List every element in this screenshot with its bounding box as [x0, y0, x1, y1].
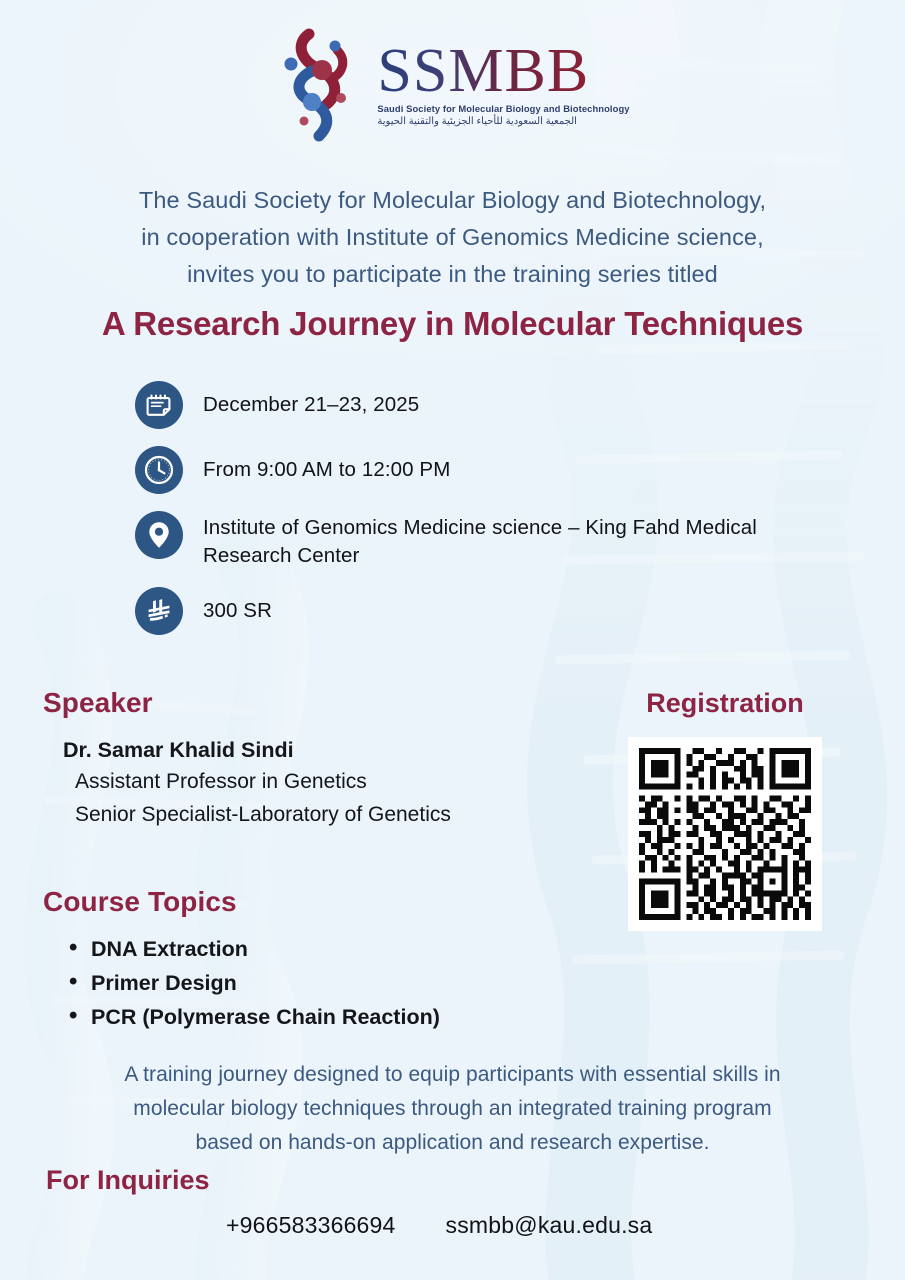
intro-line-3: invites you to participate in the traini…: [0, 256, 905, 293]
speaker-title-1: Assistant Professor in Genetics: [75, 765, 603, 798]
speaker-title-2: Senior Specialist-Laboratory of Genetics: [75, 798, 603, 831]
intro-line-1: The Saudi Society for Molecular Biology …: [0, 182, 905, 219]
event-details-list: December 21–23, 2025 From 9:00 AM to 12:…: [135, 381, 875, 652]
poster-content: SSMBB Saudi Society for Molecular Biolog…: [0, 0, 905, 1280]
detail-row-date: December 21–23, 2025: [135, 381, 875, 429]
contact-phone[interactable]: +966583366694: [226, 1212, 396, 1239]
detail-text-fee: 300 SR: [203, 587, 272, 625]
logo-tagline-arabic: الجمعية السعودية للأحياء الجزيئية والتقن…: [377, 116, 577, 127]
saudi-riyal-icon: [135, 587, 183, 635]
logo-tagline-english: Saudi Society for Molecular Biology and …: [377, 103, 629, 114]
detail-row-fee: 300 SR: [135, 587, 875, 635]
inquiries-heading: For Inquiries: [46, 1165, 210, 1196]
detail-row-time: From 9:00 AM to 12:00 PM: [135, 446, 875, 494]
course-topics-heading: Course Topics: [43, 886, 603, 918]
description-line-3: based on hands-on application and resear…: [0, 1126, 905, 1160]
contact-row: +966583366694 ssmbb@kau.edu.sa: [226, 1212, 652, 1239]
poster-root: SSMBB Saudi Society for Molecular Biolog…: [0, 0, 905, 1280]
intro-paragraph: The Saudi Society for Molecular Biology …: [0, 182, 905, 293]
list-item: Primer Design: [91, 966, 603, 1000]
description-paragraph: A training journey designed to equip par…: [0, 1058, 905, 1160]
intro-line-2: in cooperation with Institute of Genomic…: [0, 219, 905, 256]
speaker-name: Dr. Samar Khalid Sindi: [63, 735, 603, 765]
location-pin-icon: [135, 511, 183, 559]
calendar-icon: [135, 381, 183, 429]
course-topics-section: Course Topics DNA Extraction Primer Desi…: [43, 886, 603, 1034]
page-title: A Research Journey in Molecular Techniqu…: [0, 305, 905, 343]
list-item: PCR (Polymerase Chain Reaction): [91, 1000, 603, 1034]
ssmbb-logo: SSMBB Saudi Society for Molecular Biolog…: [0, 26, 905, 146]
detail-text-time: From 9:00 AM to 12:00 PM: [203, 446, 450, 484]
registration-qr-code[interactable]: [628, 737, 822, 931]
dna-strands-logo-icon: [275, 26, 371, 146]
speaker-heading: Speaker: [43, 687, 603, 719]
detail-text-location: Institute of Genomics Medicine science –…: [203, 511, 833, 570]
description-line-1: A training journey designed to equip par…: [0, 1058, 905, 1092]
registration-section: Registration: [600, 688, 850, 931]
detail-text-date: December 21–23, 2025: [203, 381, 419, 419]
list-item: DNA Extraction: [91, 932, 603, 966]
speaker-section: Speaker Dr. Samar Khalid Sindi Assistant…: [43, 687, 603, 831]
logo-wordmark: SSMBB: [377, 41, 589, 102]
contact-email[interactable]: ssmbb@kau.edu.sa: [446, 1212, 653, 1239]
clock-icon: [135, 446, 183, 494]
course-topics-list: DNA Extraction Primer Design PCR (Polyme…: [43, 932, 603, 1034]
registration-heading: Registration: [600, 688, 850, 719]
description-line-2: molecular biology techniques through an …: [0, 1092, 905, 1126]
detail-row-location: Institute of Genomics Medicine science –…: [135, 511, 875, 570]
